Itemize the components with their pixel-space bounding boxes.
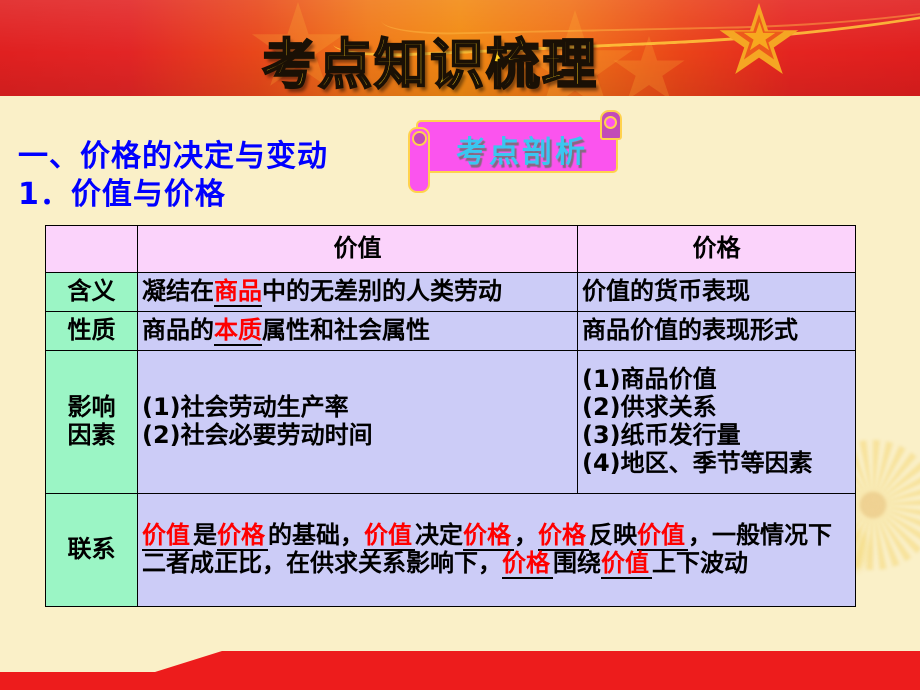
cell-factors-price: (1)商品价值 (2)供求关系 (3)纸币发行量 (4)地区、季节等因素 (578, 351, 856, 494)
text-segment: 是 (193, 521, 217, 549)
keyword-highlight: 本质 (214, 316, 262, 346)
keyword-highlight: 价格 (502, 549, 553, 579)
text-segment: 商品的 (142, 316, 214, 344)
table-row: 影响 因素 (1)社会劳动生产率 (2)社会必要劳动时间 (1)商品价值 (2)… (46, 351, 856, 494)
cell-factors-value: (1)社会劳动生产率 (2)社会必要劳动时间 (138, 351, 578, 494)
header-banner: 考点知识梳理 (0, 0, 920, 96)
row-label-relation: 联系 (46, 494, 138, 607)
text-segment: 的基础， (268, 521, 364, 549)
text-segment: 凝结在 (142, 277, 214, 305)
keyword-highlight: 商品 (214, 277, 262, 307)
scroll-badge-label: 考点剖析 (432, 127, 612, 171)
text-segment: 反映 (589, 521, 637, 549)
text-segment: 上下波动 (652, 549, 748, 577)
table-header-blank (46, 226, 138, 273)
footer-band (0, 646, 920, 690)
page-title: 考点知识梳理 (262, 20, 598, 96)
keyword-highlight: 价值 (142, 521, 193, 551)
text-segment: 属性和社会属性 (262, 316, 430, 344)
text-segment: ， (514, 521, 538, 549)
cell-nature-value: 商品的本质属性和社会属性 (138, 312, 578, 351)
row-label-meaning: 含义 (46, 273, 138, 312)
table-row: 含义 凝结在商品中的无差别的人类劳动 价值的货币表现 (46, 273, 856, 312)
table-header-price: 价格 (578, 226, 856, 273)
cell-meaning-price: 价值的货币表现 (578, 273, 856, 312)
text-segment: 中的无差别的人类劳动 (262, 277, 502, 305)
cell-relation-text: 价值是价格的基础，价值决定价格，价格反映价值，一般情况下二者成正比，在供求关系影… (138, 494, 856, 607)
cell-nature-price: 商品价值的表现形式 (578, 312, 856, 351)
keyword-highlight: 价格 (538, 521, 589, 551)
subsection-heading: 1．价值与价格 (18, 169, 226, 213)
table-row: 性质 商品的本质属性和社会属性 商品价值的表现形式 (46, 312, 856, 351)
keyword-highlight: 价值 (601, 549, 652, 579)
table-header-row: 价值 价格 (46, 226, 856, 273)
keyword-highlight: 价值 (637, 521, 688, 551)
scroll-curl-left-icon (412, 131, 427, 146)
scroll-badge: 考点剖析 (404, 113, 619, 173)
text-segment: 决定 (415, 521, 463, 549)
table-row: 联系 价值是价格的基础，价值决定价格，价格反映价值，一般情况下二者成正比，在供求… (46, 494, 856, 607)
cell-meaning-value: 凝结在商品中的无差别的人类劳动 (138, 273, 578, 312)
table-header-value: 价值 (138, 226, 578, 273)
row-label-nature: 性质 (46, 312, 138, 351)
keyword-highlight: 价格 (463, 521, 514, 551)
row-label-factors: 影响 因素 (46, 351, 138, 494)
keyword-highlight: 价值 (364, 521, 415, 551)
keyword-highlight: 价格 (217, 521, 268, 551)
text-segment: 围绕 (553, 549, 601, 577)
knowledge-table: 价值 价格 含义 凝结在商品中的无差别的人类劳动 价值的货币表现 性质 商品的本… (45, 225, 856, 607)
